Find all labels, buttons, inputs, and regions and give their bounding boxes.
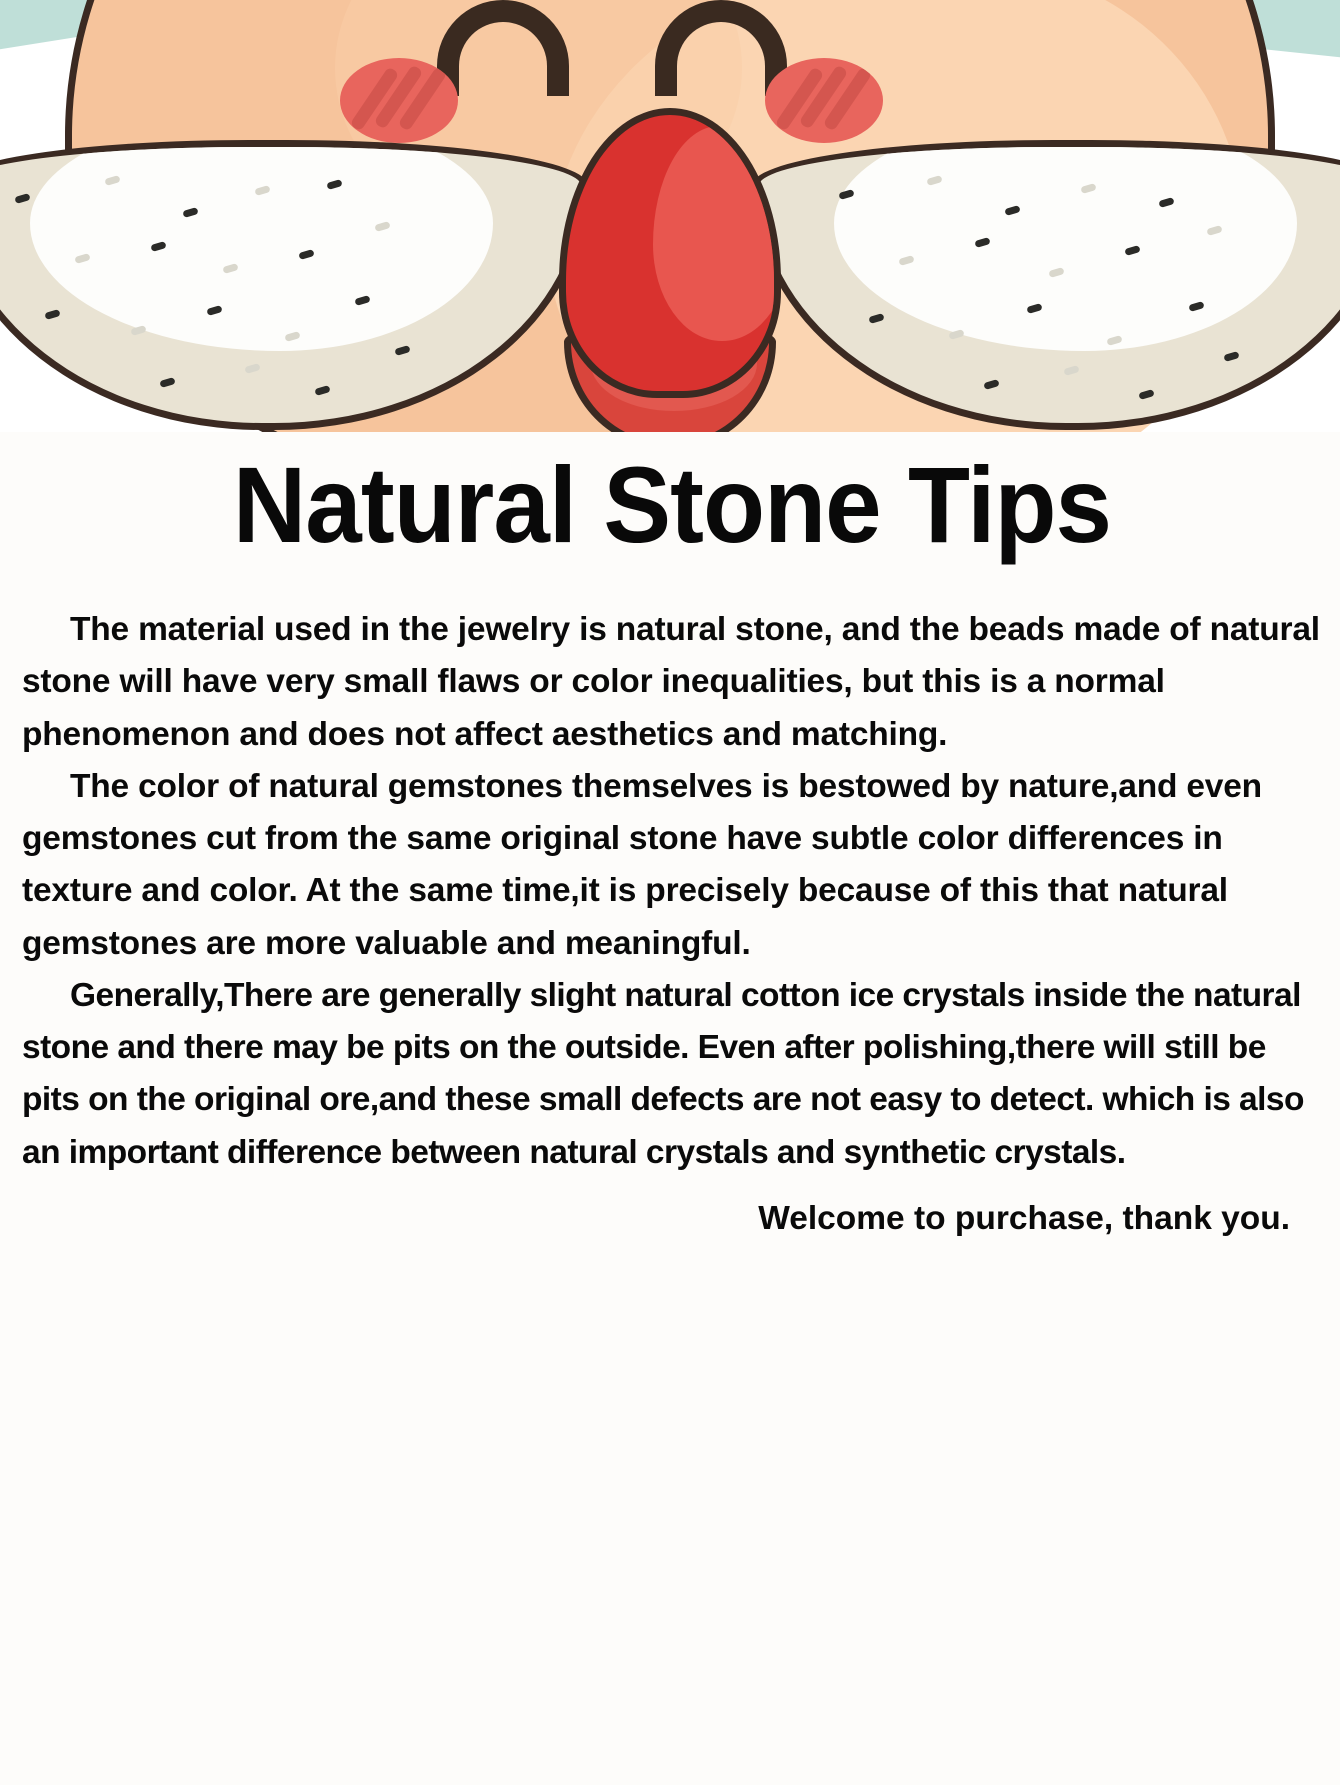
tip-paragraph-1: The material used in the jewelry is natu… [22,604,1322,761]
cheek-right-icon [765,58,883,143]
page-title: Natural Stone Tips [61,450,1283,560]
tips-body: The material used in the jewelry is natu… [22,604,1322,1245]
cheek-left-icon [340,58,458,143]
cartoon-face-illustration [0,0,1340,432]
beard-highlight-left-icon [30,140,493,351]
beard-highlight-right-icon [834,140,1297,351]
content-area: Natural Stone Tips The material used in … [0,450,1340,1245]
natural-stone-tips-page: Natural Stone Tips The material used in … [0,0,1340,1785]
closing-message: Welcome to purchase, thank you. [22,1193,1322,1245]
tip-paragraph-2: The color of natural gemstones themselve… [22,761,1322,970]
tip-paragraph-3: Generally,There are generally slight nat… [22,970,1322,1179]
